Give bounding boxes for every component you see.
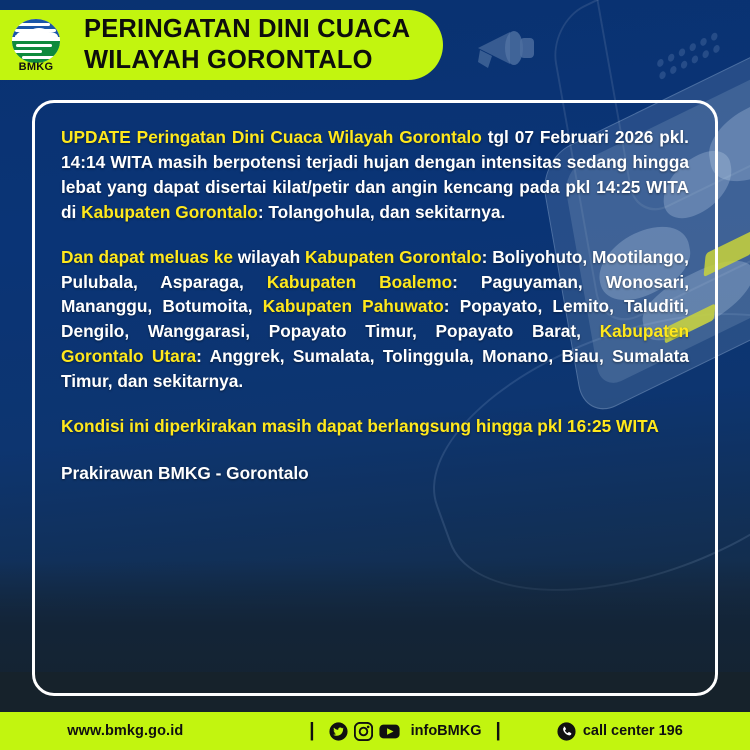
warning-signature: Prakirawan BMKG - Gorontalo (61, 461, 689, 486)
header-banner: BMKG PERINGATAN DINI CUACA WILAYAH GORON… (0, 10, 443, 80)
page-title-line2: WILAYAH GORONTALO (84, 45, 410, 76)
expansion-plain: wilayah (233, 247, 305, 267)
update-label: UPDATE Peringatan Dini Cuaca Wilayah Gor… (61, 127, 482, 147)
instagram-icon[interactable] (354, 722, 373, 741)
footer-separator-right: | (495, 720, 500, 742)
warning-paragraph-2: Dan dapat meluas ke wilayah Kabupaten Go… (61, 245, 689, 394)
region-name-0: Kabupaten Gorontalo (305, 247, 482, 267)
region-name-2: Kabupaten Pahuwato (263, 296, 444, 316)
footer-social-group: infoBMKG (329, 722, 482, 741)
bmkg-logo-icon: BMKG (12, 19, 64, 71)
weather-warning-poster: BMKG PERINGATAN DINI CUACA WILAYAH GORON… (0, 0, 750, 750)
youtube-icon[interactable] (379, 723, 400, 740)
footer-website[interactable]: www.bmkg.go.id (67, 723, 183, 739)
bmkg-logo-label: BMKG (12, 61, 60, 73)
twitter-icon[interactable] (329, 722, 348, 741)
warning-paragraph-1: UPDATE Peringatan Dini Cuaca Wilayah Gor… (61, 125, 689, 225)
region-name-1: Kabupaten Boalemo (267, 272, 452, 292)
phone-icon[interactable] (557, 722, 576, 741)
paragraph1-areas: : Tolangohula, dan sekitarnya. (258, 202, 505, 222)
page-title-line1: PERINGATAN DINI CUACA (84, 14, 410, 45)
warning-content-card: UPDATE Peringatan Dini Cuaca Wilayah Gor… (32, 100, 718, 696)
footer-call-center-label[interactable]: call center 196 (583, 723, 683, 739)
warning-duration: Kondisi ini diperkirakan masih dapat ber… (61, 414, 689, 439)
expansion-intro: Dan dapat meluas ke (61, 247, 233, 267)
paragraph1-region: Kabupaten Gorontalo (81, 202, 258, 222)
page-title: PERINGATAN DINI CUACA WILAYAH GORONTALO (84, 14, 410, 76)
footer-call-center-group: call center 196 (557, 722, 683, 741)
footer-separator-left: | (309, 720, 314, 742)
megaphone-icon (470, 20, 548, 76)
warning-body: UPDATE Peringatan Dini Cuaca Wilayah Gor… (61, 125, 689, 486)
footer-social-handle[interactable]: infoBMKG (411, 723, 482, 739)
footer-bar: www.bmkg.go.id | (0, 712, 750, 750)
